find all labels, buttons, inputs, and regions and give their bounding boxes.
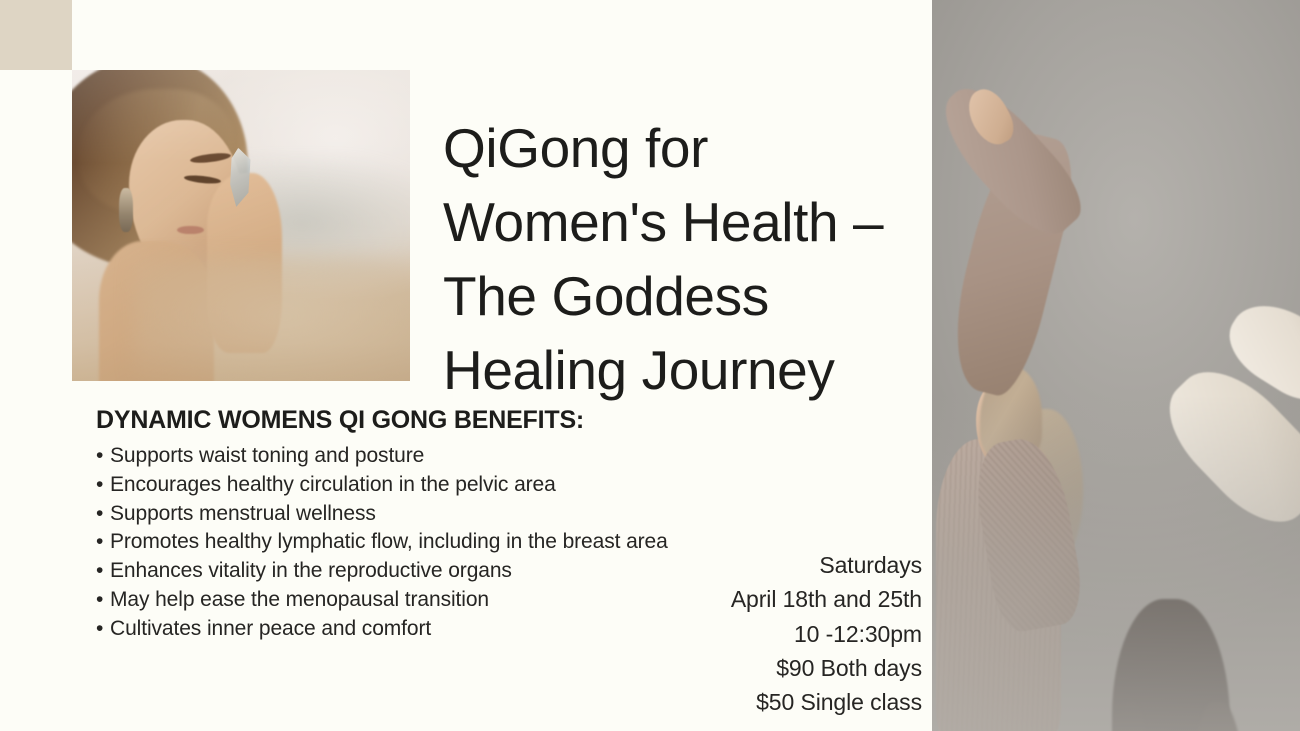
two-women-stretching-photo	[932, 0, 1300, 731]
bullet-icon: •	[96, 586, 110, 615]
bullet-icon: •	[96, 500, 110, 529]
schedule-block: Saturdays April 18th and 25th 10 -12:30p…	[560, 548, 922, 719]
schedule-day: Saturdays	[560, 548, 922, 582]
photo-overall-haze-layer	[72, 70, 410, 381]
list-item-label: Supports waist toning and posture	[110, 444, 424, 467]
price-single-class: $50 Single class	[560, 685, 922, 719]
bullet-icon: •	[96, 528, 110, 557]
qigong-workshop-poster: QiGong for Women's Health – The Goddess …	[0, 0, 1300, 731]
bullet-icon: •	[96, 615, 110, 644]
list-item-label: Supports menstrual wellness	[110, 502, 376, 525]
list-item: •Supports menstrual wellness	[96, 500, 736, 529]
schedule-dates: April 18th and 25th	[560, 582, 922, 616]
list-item-label: Encourages healthy circulation in the pe…	[110, 473, 556, 496]
bullet-icon: •	[96, 557, 110, 586]
benefits-heading: DYNAMIC WOMENS QI GONG BENEFITS:	[96, 405, 736, 435]
price-both-days: $90 Both days	[560, 651, 922, 685]
page-title: QiGong for Women's Health – The Goddess …	[443, 111, 923, 407]
list-item-label: May help ease the menopausal transition	[110, 588, 489, 611]
schedule-time: 10 -12:30pm	[560, 617, 922, 651]
list-item-label: Cultivates inner peace and comfort	[110, 617, 431, 640]
woman-with-crystal-photo	[72, 70, 410, 381]
studio-floor-gradient-layer	[932, 395, 1300, 731]
corner-accent-swatch	[0, 0, 72, 70]
list-item: •Supports waist toning and posture	[96, 442, 736, 471]
bullet-icon: •	[96, 471, 110, 500]
list-item: •Encourages healthy circulation in the p…	[96, 471, 736, 500]
list-item-label: Enhances vitality in the reproductive or…	[110, 559, 512, 582]
bullet-icon: •	[96, 442, 110, 471]
